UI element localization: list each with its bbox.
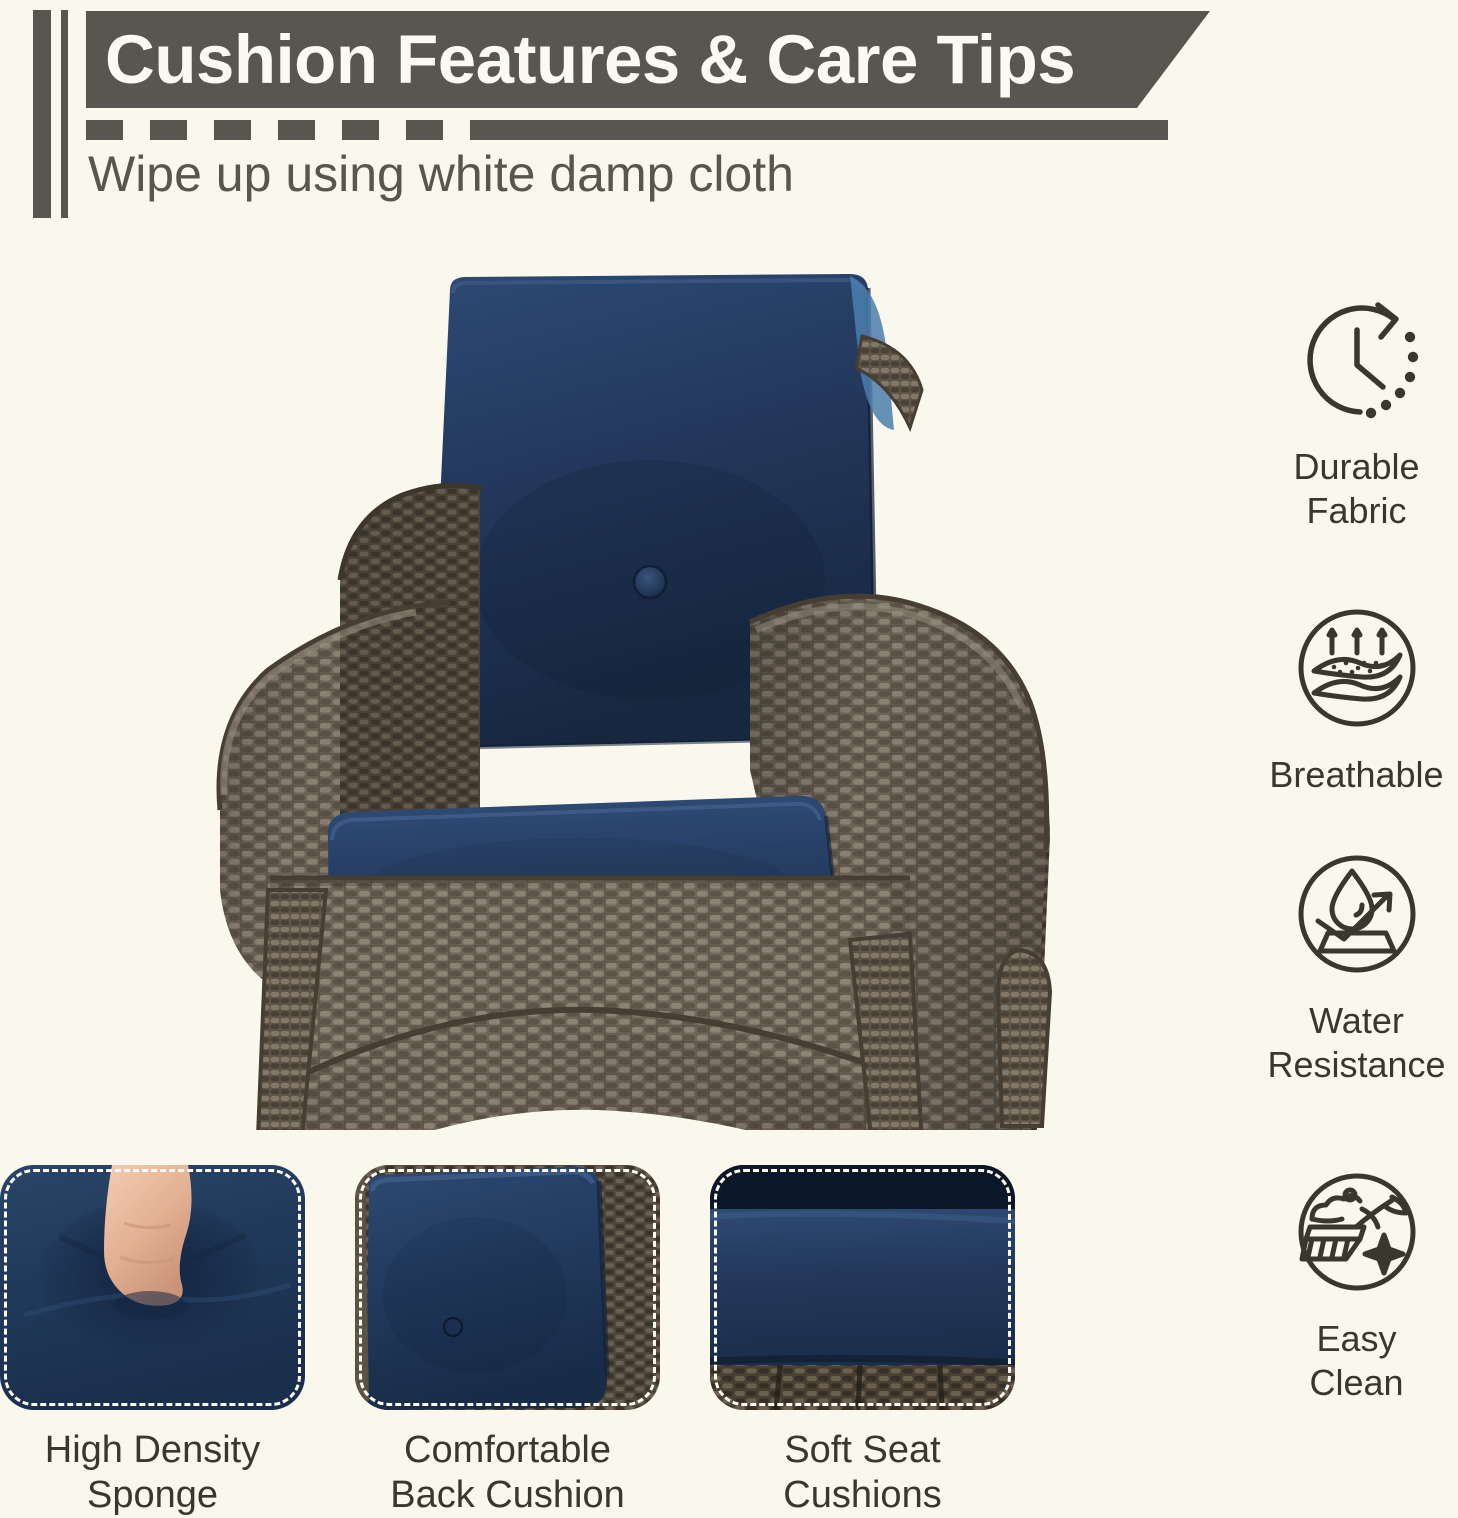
feature-breathable: Breathable: [1255, 593, 1458, 797]
feature-label: Easy Clean: [1309, 1317, 1403, 1405]
title-plate: Cushion Features & Care Tips: [86, 11, 1210, 108]
water-droplet-repel-icon: [1282, 839, 1432, 989]
thumbnail-caption: Comfortable Back Cushion: [355, 1428, 660, 1518]
clock-arrow-icon: [1282, 285, 1432, 435]
feature-label: Water Resistance: [1267, 999, 1445, 1087]
thumbnail-high-density-sponge[interactable]: High Density Sponge: [0, 1165, 305, 1518]
hero-product-image: [150, 250, 1150, 1130]
header-dash-segment: [342, 120, 379, 140]
thumbnail-image[interactable]: [355, 1165, 660, 1410]
chair-base: [260, 870, 930, 1130]
feature-easy-clean: Easy Clean: [1255, 1157, 1458, 1405]
feature-icon-rail: Durable Fabric Breathable: [1255, 285, 1458, 1425]
thumbnail-caption: Soft Seat Cushions: [710, 1428, 1015, 1518]
header-dash-segment: [86, 120, 123, 140]
thumbnail-image[interactable]: [710, 1165, 1015, 1410]
header-dash-segment: [278, 120, 315, 140]
thumbnail-image[interactable]: [0, 1165, 305, 1410]
header-dash-segment: [406, 120, 443, 140]
brush-sparkle-icon: [1282, 1157, 1432, 1307]
thumbnail-caption: High Density Sponge: [0, 1428, 305, 1518]
thumbnail-soft-seat-cushions[interactable]: Soft Seat Cushions: [710, 1165, 1015, 1518]
header-solid-rule: [470, 120, 1168, 140]
thumbnail-comfortable-back-cushion[interactable]: Comfortable Back Cushion: [355, 1165, 660, 1518]
wicker-armchair-illustration: [150, 250, 1150, 1130]
header-dash-segment: [214, 120, 251, 140]
page-title: Cushion Features & Care Tips: [86, 25, 1075, 94]
feature-label: Durable Fabric: [1293, 445, 1419, 533]
feature-water-resistance: Water Resistance: [1255, 839, 1458, 1087]
breathable-fabric-icon: [1282, 593, 1432, 743]
header-dash-segment: [150, 120, 187, 140]
feature-durable-fabric: Durable Fabric: [1255, 285, 1458, 533]
header-accent-bar-thin: [61, 10, 68, 218]
feature-label: Breathable: [1269, 753, 1443, 797]
header-accent-bar-thick: [33, 10, 51, 218]
page-subtitle: Wipe up using white damp cloth: [88, 146, 794, 202]
detail-thumbnail-strip: High Density Sponge: [0, 1165, 1030, 1500]
header-banner: Cushion Features & Care Tips Wipe up usi…: [0, 0, 1270, 235]
